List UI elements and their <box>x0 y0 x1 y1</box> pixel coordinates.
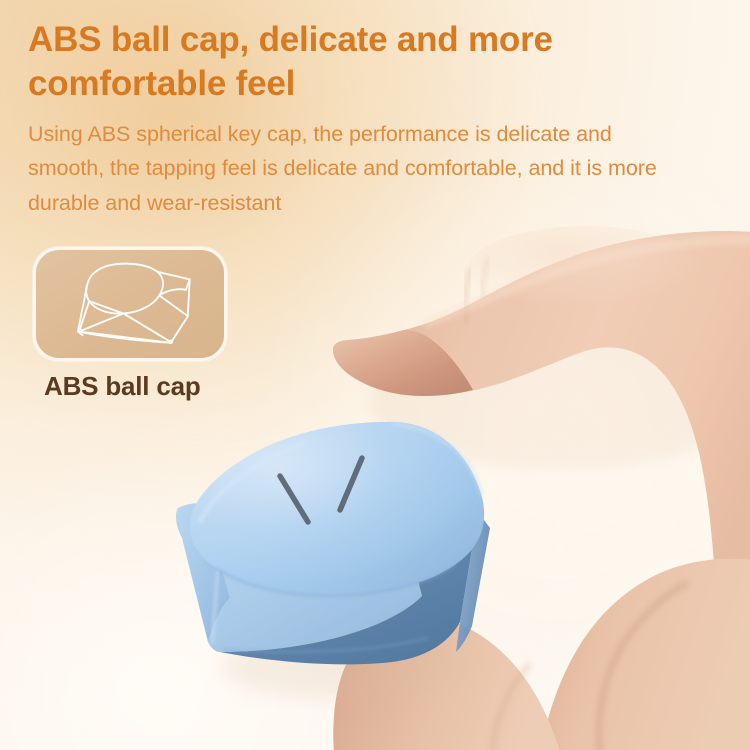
keycap-wireframe-icon <box>36 250 224 358</box>
abs-ball-cap-badge <box>33 247 227 361</box>
product-feature-banner: ABS ball cap, delicate and more comforta… <box>0 0 750 750</box>
page-description: Using ABS spherical key cap, the perform… <box>28 117 688 221</box>
copy-block: ABS ball cap, delicate and more comforta… <box>28 18 700 221</box>
product-keycap <box>160 400 520 710</box>
badge-label: ABS ball cap <box>44 372 201 401</box>
page-title: ABS ball cap, delicate and more comforta… <box>28 18 668 106</box>
